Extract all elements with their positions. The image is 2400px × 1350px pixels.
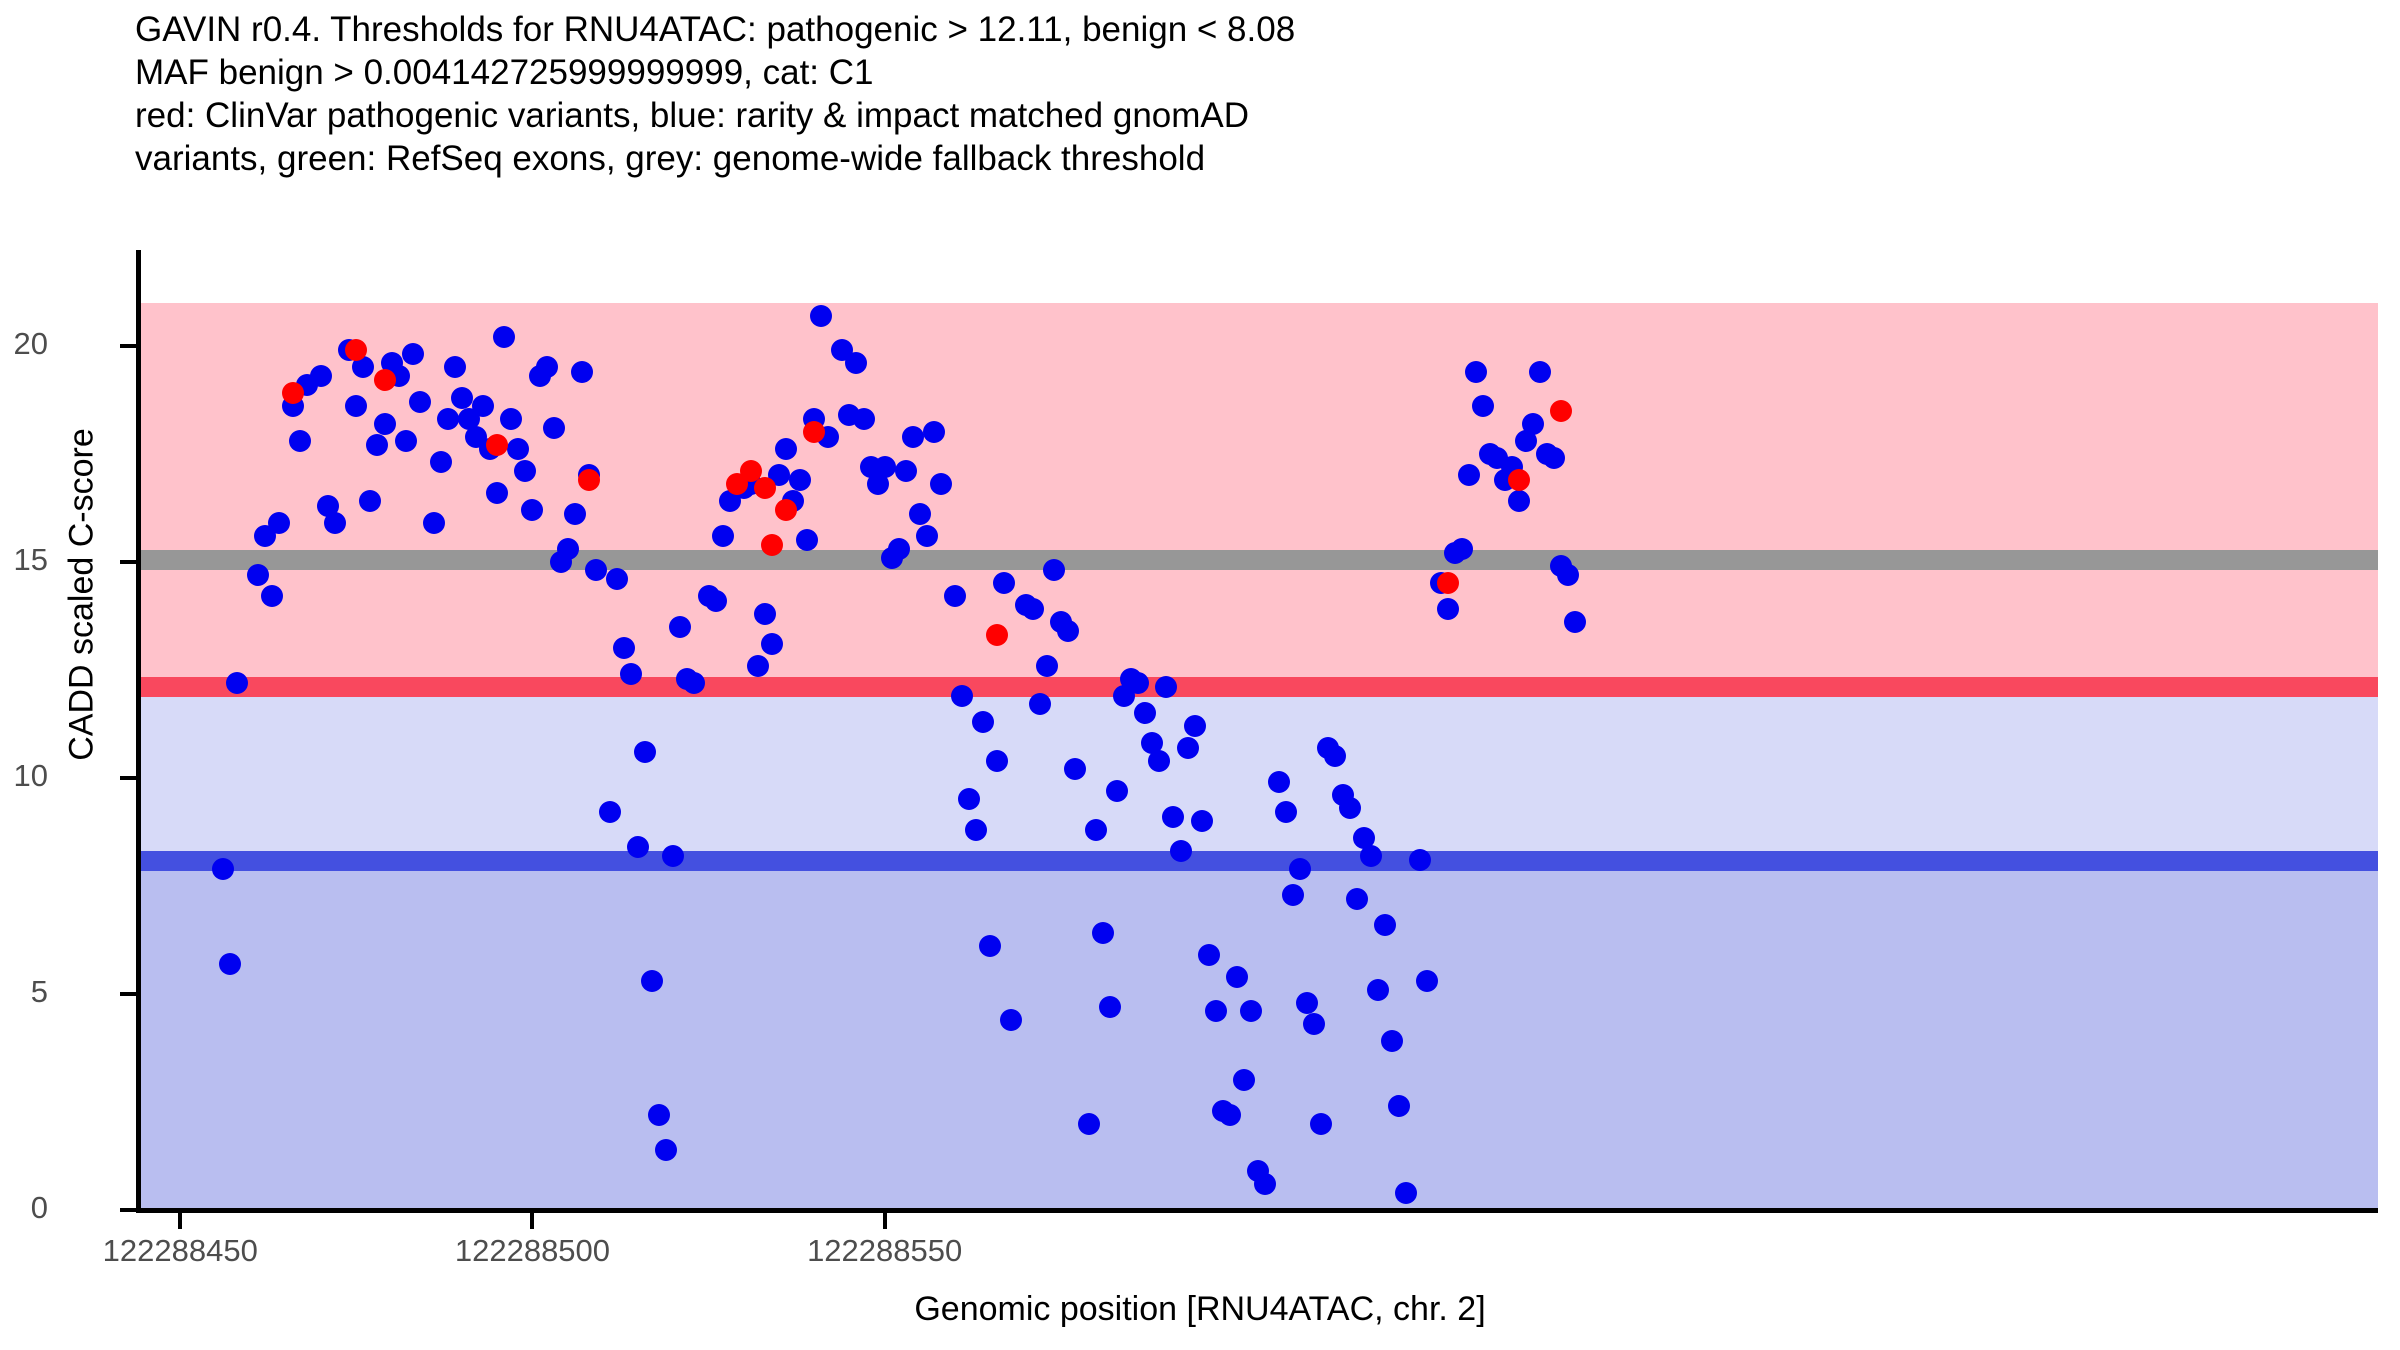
data-point — [1170, 840, 1192, 862]
data-point — [1339, 797, 1361, 819]
threshold-band-pathogenic — [138, 303, 2378, 687]
data-point — [1064, 758, 1086, 780]
data-point — [965, 819, 987, 841]
x-axis-tick — [178, 1213, 182, 1229]
data-point — [1029, 693, 1051, 715]
data-point — [409, 391, 431, 413]
x-axis-line — [136, 1208, 2378, 1213]
data-point — [1198, 944, 1220, 966]
data-point — [486, 482, 508, 504]
data-point — [437, 408, 459, 430]
data-point — [1346, 888, 1368, 910]
data-point — [761, 534, 783, 556]
data-point — [1296, 992, 1318, 1014]
title-line-1: GAVIN r0.4. Thresholds for RNU4ATAC: pat… — [135, 8, 2335, 51]
y-axis-tick-label: 5 — [31, 974, 48, 1010]
data-point — [1367, 979, 1389, 1001]
data-point — [712, 525, 734, 547]
y-axis-tick — [120, 344, 136, 348]
data-point — [451, 387, 473, 409]
data-point — [289, 430, 311, 452]
data-point — [627, 836, 649, 858]
data-point — [578, 469, 600, 491]
x-axis-tick-label: 122288450 — [103, 1233, 258, 1269]
data-point — [395, 430, 417, 452]
threshold-band-benign — [138, 861, 2378, 1210]
data-point — [874, 456, 896, 478]
data-point — [324, 512, 346, 534]
x-axis-tick — [530, 1213, 534, 1229]
data-point — [669, 616, 691, 638]
data-point — [923, 421, 945, 443]
data-point — [1106, 780, 1128, 802]
data-point — [1409, 849, 1431, 871]
data-point — [1240, 1000, 1262, 1022]
data-point — [972, 711, 994, 733]
data-point — [402, 343, 424, 365]
y-axis-tick — [120, 1208, 136, 1212]
data-point — [1282, 884, 1304, 906]
data-point — [1078, 1113, 1100, 1135]
data-point — [310, 365, 332, 387]
data-point — [895, 460, 917, 482]
data-point — [1416, 970, 1438, 992]
data-point — [747, 655, 769, 677]
data-point — [1254, 1173, 1276, 1195]
data-point — [543, 417, 565, 439]
data-point — [662, 845, 684, 867]
data-point — [754, 603, 776, 625]
data-point — [212, 858, 234, 880]
threshold-line-benign — [138, 851, 2378, 871]
data-point — [634, 741, 656, 763]
y-axis-tick — [120, 776, 136, 780]
data-point — [853, 408, 875, 430]
data-point — [226, 672, 248, 694]
data-point — [1550, 400, 1572, 422]
data-point — [571, 361, 593, 383]
threshold-line-genome-wide-fallback — [138, 550, 2378, 570]
data-point — [1127, 672, 1149, 694]
data-point — [1465, 361, 1487, 383]
y-axis-tick-label: 0 — [31, 1190, 48, 1226]
data-point — [1226, 966, 1248, 988]
data-point — [888, 538, 910, 560]
data-point — [761, 633, 783, 655]
data-point — [902, 426, 924, 448]
data-point — [1310, 1113, 1332, 1135]
data-point — [1022, 598, 1044, 620]
plot-panel — [138, 268, 2378, 1210]
data-point — [1395, 1182, 1417, 1204]
x-axis-tick-label: 122288550 — [807, 1233, 962, 1269]
data-point — [1184, 715, 1206, 737]
data-point — [775, 499, 797, 521]
data-point — [1451, 538, 1473, 560]
y-axis-tick-label: 20 — [14, 326, 48, 362]
data-point — [247, 564, 269, 586]
data-point — [951, 685, 973, 707]
threshold-line-pathogenic — [138, 677, 2378, 697]
data-point — [564, 503, 586, 525]
data-point — [789, 469, 811, 491]
data-point — [1148, 750, 1170, 772]
chart-title-block: GAVIN r0.4. Thresholds for RNU4ATAC: pat… — [135, 8, 2335, 180]
data-point — [557, 538, 579, 560]
x-axis-tick — [883, 1213, 887, 1229]
data-point — [655, 1139, 677, 1161]
data-point — [536, 356, 558, 378]
data-point — [705, 590, 727, 612]
data-point — [909, 503, 931, 525]
data-point — [916, 525, 938, 547]
data-point — [810, 305, 832, 327]
data-point — [1177, 737, 1199, 759]
data-point — [1374, 914, 1396, 936]
data-point — [1388, 1095, 1410, 1117]
data-point — [648, 1104, 670, 1126]
data-point — [1191, 810, 1213, 832]
data-point — [1036, 655, 1058, 677]
data-point — [1543, 447, 1565, 469]
data-point — [1219, 1104, 1241, 1126]
data-point — [641, 970, 663, 992]
x-axis-tick-label: 122288500 — [455, 1233, 610, 1269]
data-point — [423, 512, 445, 534]
data-point — [1289, 858, 1311, 880]
y-axis-tick — [120, 992, 136, 996]
data-point — [1099, 996, 1121, 1018]
data-point — [1360, 845, 1382, 867]
data-point — [374, 413, 396, 435]
data-point — [219, 953, 241, 975]
y-axis-tick — [120, 560, 136, 564]
data-point — [1522, 413, 1544, 435]
y-axis-line — [136, 250, 141, 1213]
data-point — [930, 473, 952, 495]
data-point — [1205, 1000, 1227, 1022]
data-point — [1508, 490, 1530, 512]
data-point — [374, 369, 396, 391]
data-point — [606, 568, 628, 590]
x-axis-title: Genomic position [RNU4ATAC, chr. 2] — [0, 1290, 2400, 1329]
title-line-3: red: ClinVar pathogenic variants, blue: … — [135, 94, 2335, 137]
y-axis-tick-label: 15 — [14, 542, 48, 578]
y-axis-title: CADD scaled C-score — [63, 275, 102, 915]
title-line-2: MAF benign > 0.004142725999999999, cat: … — [135, 51, 2335, 94]
data-point — [1057, 620, 1079, 642]
data-point — [268, 512, 290, 534]
threshold-band-vous — [138, 687, 2378, 861]
data-point — [1529, 361, 1551, 383]
data-point — [1085, 819, 1107, 841]
data-point — [1557, 564, 1579, 586]
data-point — [1508, 469, 1530, 491]
y-axis-tick-label: 10 — [14, 758, 48, 794]
title-line-4: variants, green: RefSeq exons, grey: gen… — [135, 137, 2335, 180]
data-point — [986, 750, 1008, 772]
